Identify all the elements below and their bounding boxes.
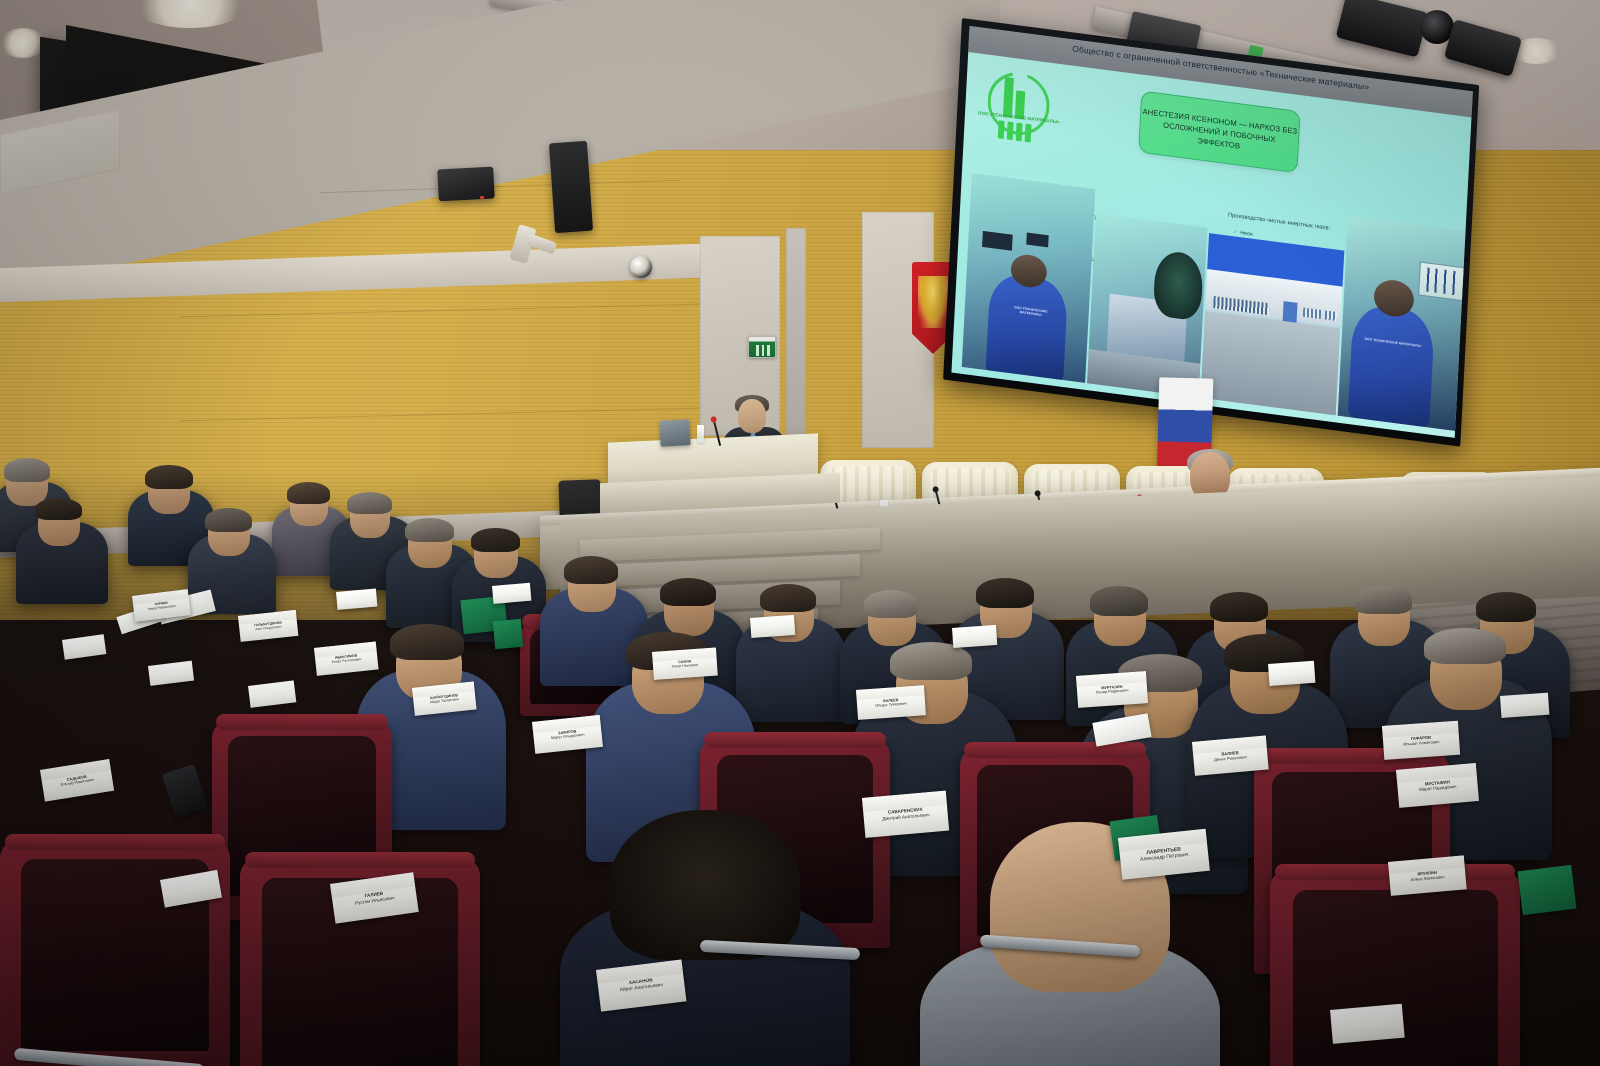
exit-sign [748,336,776,358]
audience-area [0,470,1600,1066]
slide-photo [1087,213,1207,397]
seat-cushion [1293,890,1498,1066]
worker-figure [986,272,1069,382]
wall-seam [1480,300,1600,301]
audience-hair [4,458,50,482]
podium-monitor [659,419,690,447]
seat-namecard: ЯРУЛЛИН Алмаз Фанисович [1388,855,1467,895]
seat-namecard [1330,1004,1405,1044]
slide-photo [1200,233,1344,415]
slide-photo: ООО ТЕХНИЧЕСКИЕ МАТЕРИАЛЫ [1338,216,1466,431]
attendee-phone[interactable] [162,764,209,818]
audience-hair [347,492,392,514]
audience-hair [471,528,520,552]
audience-hair [145,465,193,489]
building-windows-icon [1325,310,1337,321]
slide-right-heading: Производство чистых инертных газов: [1228,212,1330,231]
audience-hair [864,590,918,618]
pavement-shape [1200,311,1340,415]
wall-panel [786,228,806,440]
water-bottle [697,425,704,443]
seat-namecard [1500,693,1549,718]
seat-namecard: МУРТАЗИН Ленар Рафисович [1076,671,1148,708]
seat-rail [216,714,389,730]
dome-camera [630,256,652,278]
seat-namecard: ГАФАРОВ Ильшат Ахметович [1382,721,1460,760]
audience-hair [564,556,618,584]
audience-hair [660,578,716,606]
logo-bar-icon [1007,121,1014,140]
seat-namecard: САФИН Ринат Наилевич [652,648,718,680]
presentation-slide: Общество с ограниченной ответственностью… [951,26,1472,438]
exit-sign-figure-icon [755,345,771,356]
seat-rail [245,852,475,868]
attendee-folder[interactable] [493,619,523,649]
seat-rail [704,732,886,748]
slide-callout-box: АНЕСТЕЗИЯ КСЕНОНОМ — НАРКОЗ БЕЗ ОСЛОЖНЕН… [1138,91,1300,174]
seat-namecard: ВАЛЕЕВ Ильдус Гумерович [856,685,926,720]
audience-hair [390,624,464,660]
audience-hair [760,584,816,612]
attendee-folder[interactable] [1518,865,1577,915]
seat-namecard: МУСТАФИН Марат Рашидович [1396,763,1479,808]
wall-monitor [437,167,495,202]
building-door-icon [1283,301,1298,323]
worker-figure [1348,303,1436,427]
seat-namecard [952,625,997,648]
slide-monitor-chart-icon [1422,267,1461,296]
seat-namecard: ВАЛИЕВ Денис Ринатович [1192,736,1269,776]
wall-speaker [549,141,593,233]
check-icon: ✓ [1233,229,1237,236]
audience-hair [1090,586,1148,616]
slide-photo: ООО ТЕХНИЧЕСКИЕ МАТЕРИАЛЫ [962,173,1095,383]
seat-namecard [336,589,377,610]
slide-callout-text: АНЕСТЕЗИЯ КСЕНОНОМ — НАРКОЗ БЕЗ ОСЛОЖНЕН… [1140,105,1299,158]
audience-hair [205,508,252,532]
wall-monitor-led [480,196,484,199]
seat-rail [964,742,1146,758]
tree-shape [1153,249,1204,321]
logo-bar-icon [1025,124,1032,143]
audience-hair [1210,592,1268,622]
audience-head [610,810,800,960]
control-panel-icon [1026,233,1049,248]
audience-hair [890,642,972,680]
audience-hair [1354,586,1412,614]
company-logo: ООО «ТЕХНИЧЕСКИЕ МАТЕРИАЛЫ» [978,66,1059,146]
audience-hair [287,482,330,504]
control-panel-icon [982,231,1013,251]
audience-hair [35,498,82,520]
seat-namecard [1268,661,1315,686]
seat-rail [5,834,226,850]
conference-hall-photo: Общество с ограниченной ответственностью… [0,0,1600,1066]
double-headed-eagle-icon [918,276,948,328]
logo-bar-icon [998,120,1005,139]
audience-hair [405,518,454,542]
audience-hair [976,578,1034,608]
seat-namecard [492,583,531,604]
seat-namecard: САВАРЕНСКИХ Дмитрий Анатольевич [862,791,949,838]
seat-namecard [750,615,795,638]
speaker-head [738,399,766,433]
audience-hair [1476,592,1536,622]
logo-bar-icon [1016,123,1023,142]
audience-hair [1424,628,1506,664]
